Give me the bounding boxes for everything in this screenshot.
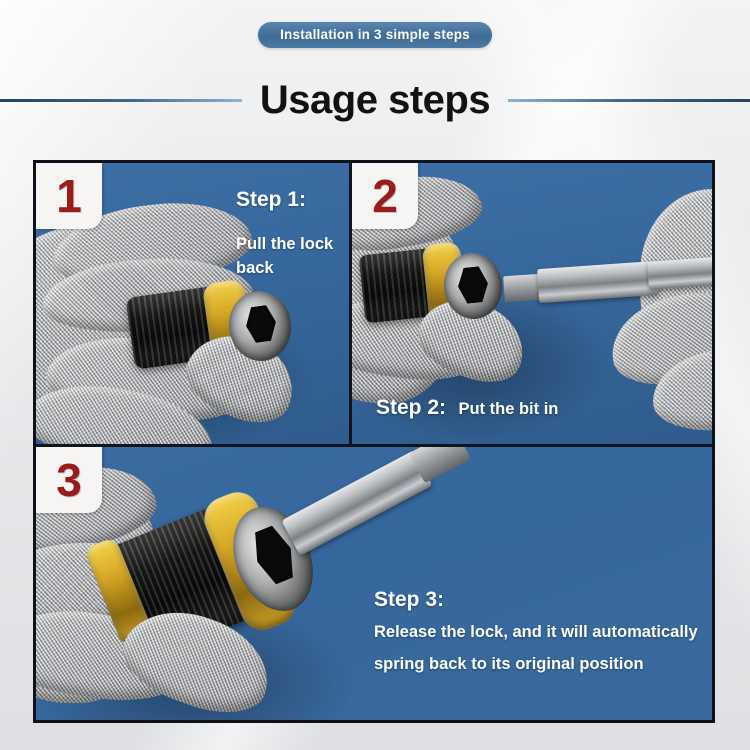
title-rule-right [508,99,750,102]
step-1-body: Pull the lock back [236,233,349,281]
step-number-badge-1: 1 [36,163,102,229]
bit-shank-2-far [647,256,712,290]
promo-page: Installation in 3 simple steps Usage ste… [0,0,750,750]
step-panel-2: 2 Step 2: Put the bit in [352,163,712,444]
step-panel-1: 1 Step 1: Pull the lock back [36,163,349,444]
step-2-caption: Step 2: Put the bit in [376,395,558,422]
step-number-2: 2 [372,173,398,219]
step-number-3: 3 [56,457,82,503]
step-3-heading: Step 3: [374,587,698,613]
steps-grid: 1 Step 1: Pull the lock back [33,160,715,723]
step-1-heading: Step 1: [236,187,349,213]
step-3-caption: Step 3: Release the lock, and it will au… [374,587,698,677]
step-number-1: 1 [56,173,82,219]
step-2-heading: Step 2: [376,395,446,421]
step-3-body-line-1: Release the lock, and it will automatica… [374,621,698,645]
step-3-body-line-2: spring back to its original position [374,653,698,677]
step-2-body: Put the bit in [458,398,558,422]
installation-badge: Installation in 3 simple steps [258,22,492,48]
title-row: Usage steps [0,72,750,128]
step-number-badge-3: 3 [36,447,102,513]
step-panel-3: 3 Step 3: Release the lock, and it will … [36,447,712,720]
title-rule-left [0,99,242,102]
top-badge-container: Installation in 3 simple steps [0,22,750,48]
page-title: Usage steps [256,80,494,120]
step-number-badge-2: 2 [352,163,418,229]
step-1-caption: Step 1: Pull the lock back [236,187,349,281]
